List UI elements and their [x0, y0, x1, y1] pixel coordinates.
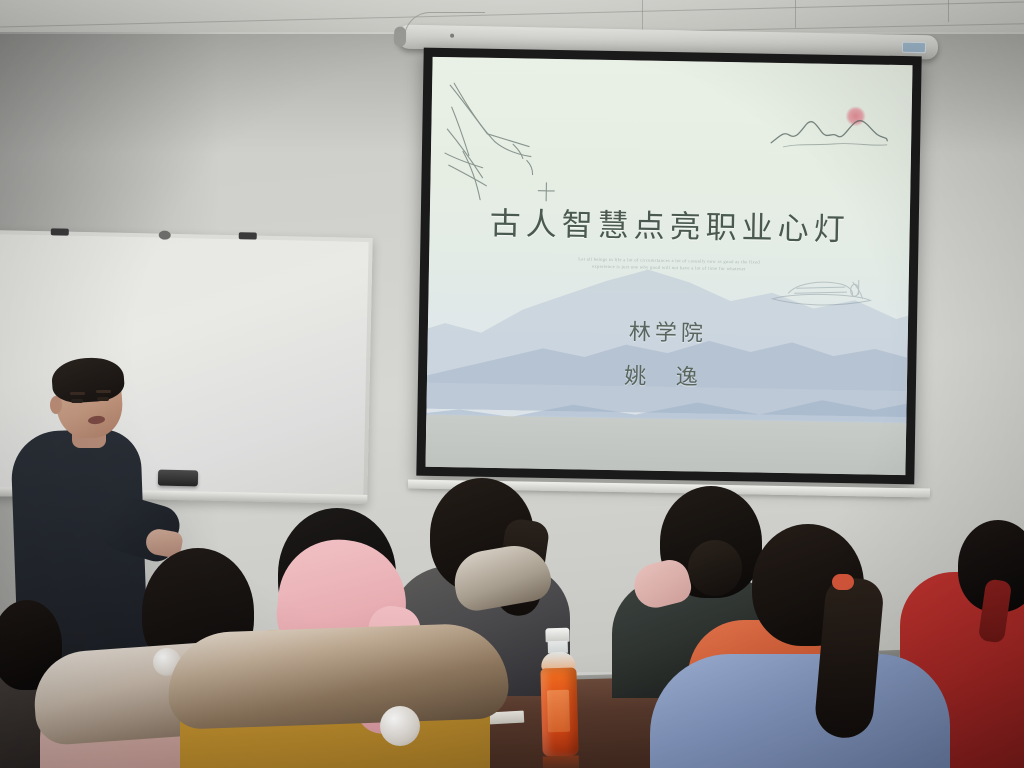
ceiling-cable: [404, 12, 485, 39]
bottle-label: [547, 690, 570, 733]
ceiling-grid-line: [795, 0, 796, 28]
slide-title: 古人智慧点亮职业心灯: [429, 197, 910, 250]
fishing-boat-ink-icon: [766, 271, 887, 315]
bottle-reflection: [543, 756, 580, 768]
student-hair-tie: [832, 574, 854, 590]
presenter-eye: [97, 397, 109, 401]
whiteboard-eraser[interactable]: [158, 470, 198, 487]
projection-screen-surface: 古人智慧点亮职业心灯 Let all beings in life a lot …: [425, 57, 912, 475]
presenter-brow: [96, 390, 111, 393]
student-pompom: [380, 706, 420, 746]
student-hair-bun: [688, 540, 742, 596]
presentation-slide: 古人智慧点亮职业心灯 Let all beings in life a lot …: [426, 57, 912, 439]
bamboo-branch-ink-icon: [442, 81, 564, 213]
whiteboard-clip: [51, 228, 69, 235]
student-coat: [650, 654, 950, 768]
ceiling-grid-line: [948, 0, 949, 22]
student-fur-collar: [166, 622, 509, 730]
mountain-ridge-ink-icon: [769, 109, 890, 157]
presenter-brow: [70, 392, 85, 395]
ceiling-grid-line: [0, 1, 1024, 27]
projection-screen-frame: 古人智慧点亮职业心灯 Let all beings in life a lot …: [416, 48, 921, 485]
orange-drink-bottle[interactable]: [536, 627, 581, 756]
housing-sticker: [902, 42, 926, 53]
screen-blank-area: [425, 415, 906, 475]
classroom-scene: 古人智慧点亮职业心灯 Let all beings in life a lot …: [0, 0, 1024, 768]
slide-subtext: Let all beings in life a lot of circumst…: [574, 255, 764, 272]
whiteboard-magnet: [159, 231, 171, 240]
presenter-eye: [71, 399, 83, 403]
whiteboard-clip: [239, 232, 257, 239]
